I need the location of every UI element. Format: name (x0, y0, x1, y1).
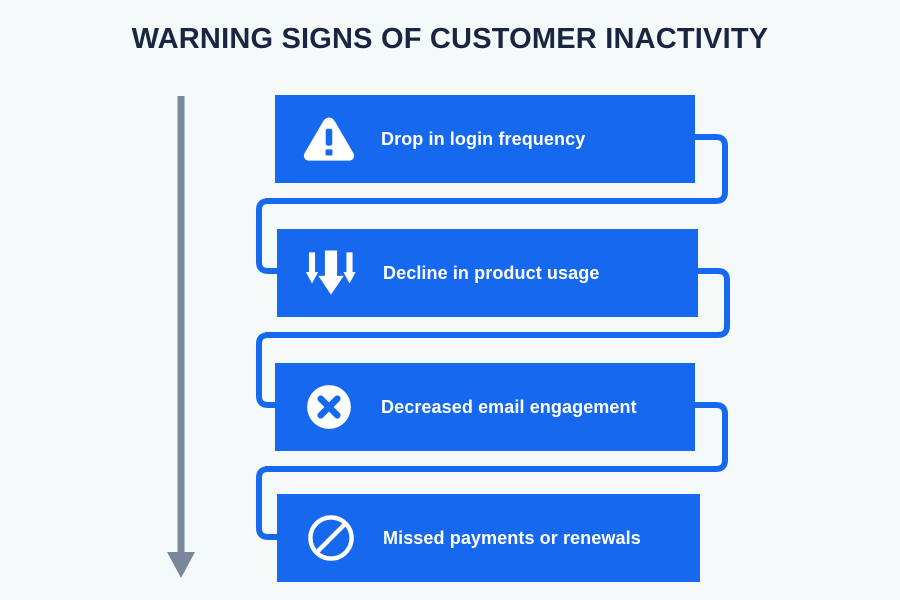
prohibition-sign-icon (295, 502, 367, 574)
step-card-2-label: Decline in product usage (383, 263, 599, 284)
x-circle-icon (293, 371, 365, 443)
warning-triangle-icon (293, 103, 365, 175)
step-card-2[interactable]: Decline in product usage (277, 229, 698, 317)
step-card-1-label: Drop in login frequency (381, 129, 585, 150)
step-card-3-label: Decreased email engagement (381, 397, 637, 418)
step-card-4[interactable]: Missed payments or renewals (277, 494, 700, 582)
step-card-3[interactable]: Decreased email engagement (275, 363, 695, 451)
step-card-1[interactable]: Drop in login frequency (275, 95, 695, 183)
triple-down-arrow-icon (295, 237, 367, 309)
infographic-canvas: WARNING SIGNS OF CUSTOMER INACTIVITY (0, 0, 900, 600)
step-card-4-label: Missed payments or renewals (383, 528, 641, 549)
